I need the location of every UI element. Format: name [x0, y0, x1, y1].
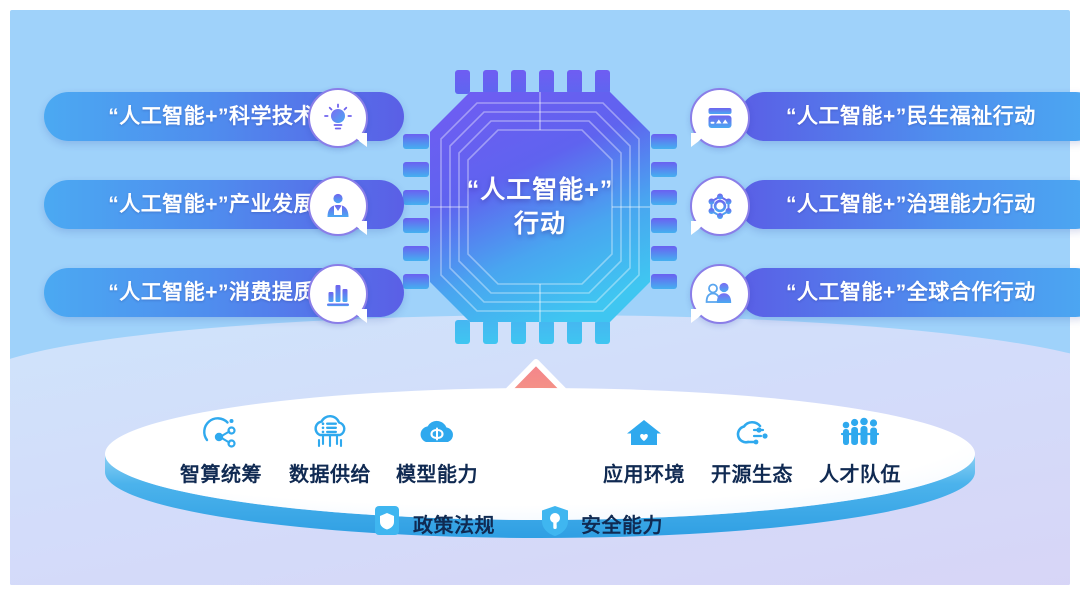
open-source-cloud-icon [729, 409, 775, 453]
action-pill-livelihood-welfare[interactable]: “人工智能+”民生福祉行动 [740, 92, 1080, 141]
action-icon-badge-science-technology[interactable] [308, 88, 368, 148]
policy-shield-icon [372, 504, 402, 543]
action-icon-badge-governance-capability[interactable] [690, 176, 750, 236]
foundation-item-model-capability[interactable]: 模型能力 [373, 409, 501, 487]
action-icon-badge-global-cooperation[interactable] [690, 264, 750, 324]
bar-chart-icon [322, 278, 354, 310]
foundation-item-label: 人才队伍 [819, 458, 901, 487]
foundation-item-label: 安全能力 [581, 509, 663, 538]
chip-pins-left [403, 134, 429, 289]
foundation-item-policy[interactable]: 政策法规 [372, 504, 495, 543]
action-pill-label: “人工智能+”治理能力行动 [786, 194, 1036, 215]
data-cloud-icon [308, 409, 352, 453]
people-group-icon [704, 278, 736, 310]
action-pill-governance-capability[interactable]: “人工智能+”治理能力行动 [740, 180, 1080, 229]
home-heart-icon [622, 409, 666, 453]
foundation-item-security[interactable]: 安全能力 [540, 504, 663, 543]
chip-pins-right [651, 134, 677, 289]
security-shield-key-icon [540, 504, 570, 543]
foundation-item-talent-team[interactable]: 人才队伍 [796, 409, 924, 487]
foundation-item-label: 开源生态 [711, 458, 793, 487]
foundation-item-label: 模型能力 [396, 458, 478, 487]
action-icon-badge-industry-development[interactable] [308, 176, 368, 236]
action-icon-badge-consumption-upgrade[interactable] [308, 264, 368, 324]
action-pill-label: “人工智能+”全球合作行动 [786, 282, 1036, 303]
foundation-item-label: 智算统筹 [180, 458, 262, 487]
foundation-item-label: 数据供给 [289, 458, 371, 487]
talent-people-icon [836, 409, 884, 453]
chip-pins-top [455, 70, 610, 94]
chip-pins-bottom [455, 320, 610, 344]
foundation-item-label: 应用环境 [603, 458, 685, 487]
network-node-icon [704, 190, 736, 222]
center-chip: “人工智能+” 行动 [400, 62, 680, 352]
lightbulb-icon [322, 102, 354, 134]
infographic-canvas: “人工智能+” 行动 “人工智能+”科学技术行动 “人工智能+”产业发展行动 [0, 0, 1080, 601]
cpu-chip-icon [400, 62, 680, 352]
action-pill-label: “人工智能+”民生福祉行动 [786, 106, 1036, 127]
action-icon-badge-livelihood-welfare[interactable] [690, 88, 750, 148]
industry-gear-icon [322, 190, 354, 222]
wallet-icon [704, 102, 736, 134]
model-brain-cloud-icon [414, 409, 460, 453]
action-pill-global-cooperation[interactable]: “人工智能+”全球合作行动 [740, 268, 1080, 317]
foundation-item-label: 政策法规 [413, 509, 495, 538]
compute-share-icon [200, 409, 242, 453]
